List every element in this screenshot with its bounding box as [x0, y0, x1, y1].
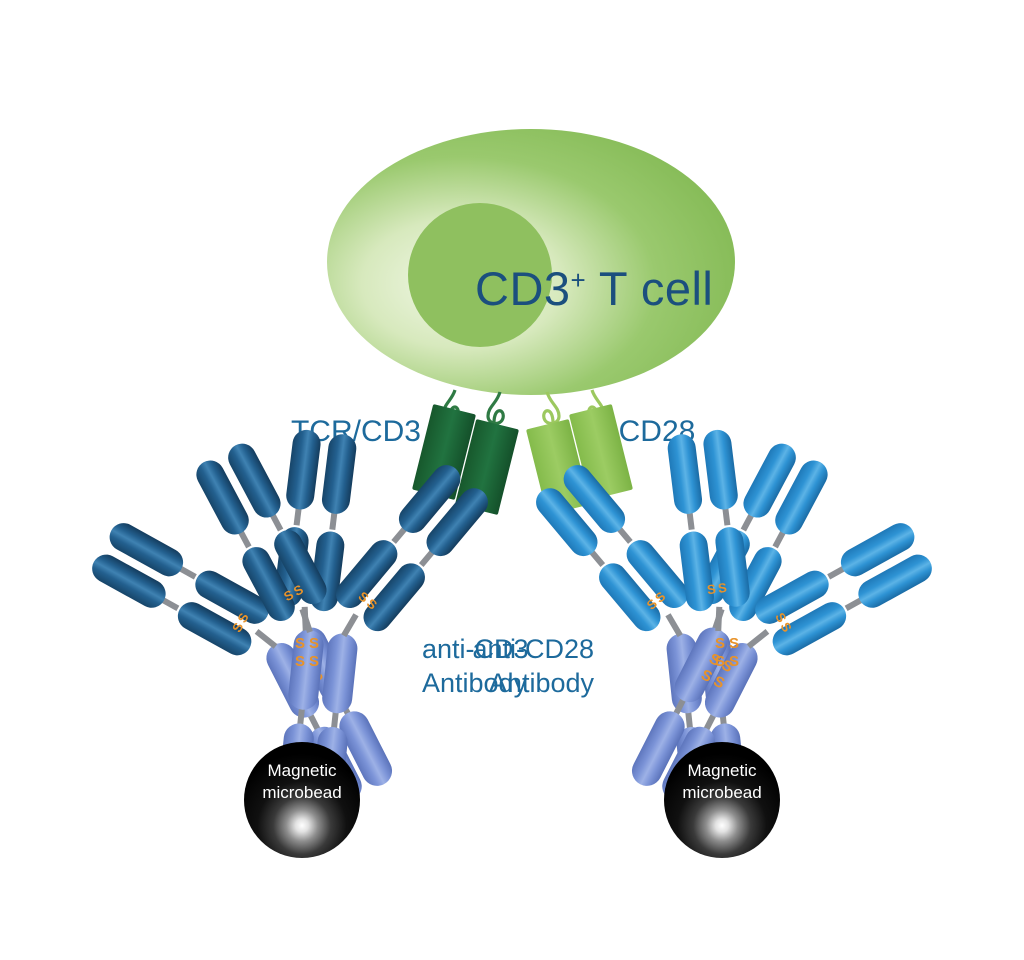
svg-text:S: S: [715, 635, 725, 652]
bead-label-line2: microbead: [262, 783, 341, 802]
svg-text:S: S: [309, 635, 319, 652]
diagram-canvas: S S CD3+ T cell TCR/CD3 CD28: [0, 0, 1024, 960]
bead-label-line2: microbead: [682, 783, 761, 802]
bead-label-line1: Magnetic: [688, 761, 757, 780]
svg-text:S: S: [309, 653, 319, 670]
magnetic-microbead-right[interactable]: Magnetic microbead: [664, 742, 780, 858]
bead-label-line1: Magnetic: [268, 761, 337, 780]
svg-text:S: S: [729, 635, 739, 652]
t-cell-label-main: CD3: [475, 262, 571, 315]
t-cell-label: CD3+ T cell: [475, 262, 713, 315]
svg-text:S: S: [295, 653, 305, 670]
cell-activation-diagram: S S CD3+ T cell TCR/CD3 CD28: [0, 0, 1024, 960]
t-cell-label-superscript: +: [571, 265, 587, 295]
svg-text:S: S: [295, 635, 305, 652]
t-cell-label-rest: T cell: [586, 262, 713, 315]
t-cell: CD3+ T cell: [327, 129, 735, 395]
magnetic-microbead-left[interactable]: Magnetic microbead: [244, 742, 360, 858]
anti-cd28-label-line2: Antibody: [489, 668, 595, 698]
anti-cd28-label-line1: anti-CD28: [472, 634, 594, 664]
svg-text:S: S: [715, 653, 725, 670]
svg-text:S: S: [729, 653, 739, 670]
